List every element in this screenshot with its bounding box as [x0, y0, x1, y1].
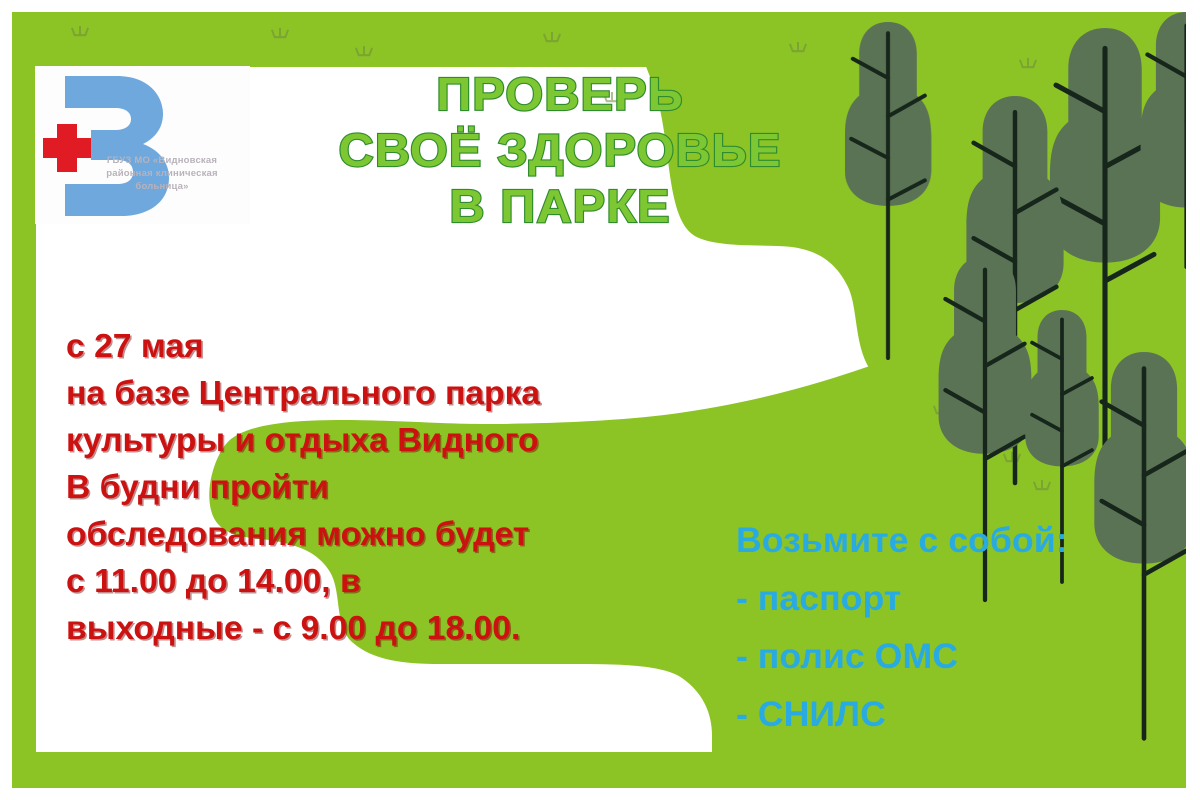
announcement-line: с 27 мая — [66, 322, 688, 369]
poster-canvas: ГБУЗ МО «Видновская районная клиническая… — [0, 0, 1200, 800]
headline-line-3: В ПАРКЕ — [284, 178, 835, 234]
headline-line-2: СВОЁ ЗДОРОВЬЕ — [284, 122, 835, 178]
bring-with-you-item: - СНИЛС — [736, 686, 1164, 744]
frame-border-left — [12, 12, 36, 788]
headline-line-1: ПРОВЕРЬ — [284, 66, 835, 122]
announcement-line: В будни пройти — [66, 463, 688, 510]
announcement-text: с 27 мая на базе Центрального парка куль… — [66, 322, 676, 651]
bring-with-you-item: - полис ОМС — [736, 628, 1164, 686]
announcement-line: с 11.00 до 14.00, в — [66, 557, 688, 604]
logo-caption-line: больница» — [135, 181, 188, 192]
poster-headline: ПРОВЕРЬ СВОЁ ЗДОРОВЬЕ В ПАРКЕ — [300, 66, 820, 234]
frame-border-bottom — [12, 752, 1186, 788]
bring-with-you-block: Возьмите с собой: - паспорт - полис ОМС … — [736, 512, 1156, 744]
logo-caption-line: ГБУЗ МО «Видновская — [107, 155, 217, 166]
announcement-line: обследования можно будет — [66, 510, 688, 557]
announcement-line: выходные - с 9.00 до 18.00. — [66, 604, 688, 651]
bring-with-you-item: - паспорт — [736, 570, 1164, 628]
logo-caption: ГБУЗ МО «Видновская районная клиническая… — [77, 154, 247, 193]
hospital-logo-card: ГБУЗ МО «Видновская районная клиническая… — [35, 66, 250, 224]
bring-with-you-heading: Возьмите с собой: — [736, 512, 1164, 570]
announcement-line: культуры и отдыха Видного — [66, 416, 688, 463]
logo-caption-line: районная клиническая — [106, 168, 218, 179]
announcement-line: на базе Центрального парка — [66, 369, 688, 416]
hospital-logo-icon — [35, 66, 250, 224]
